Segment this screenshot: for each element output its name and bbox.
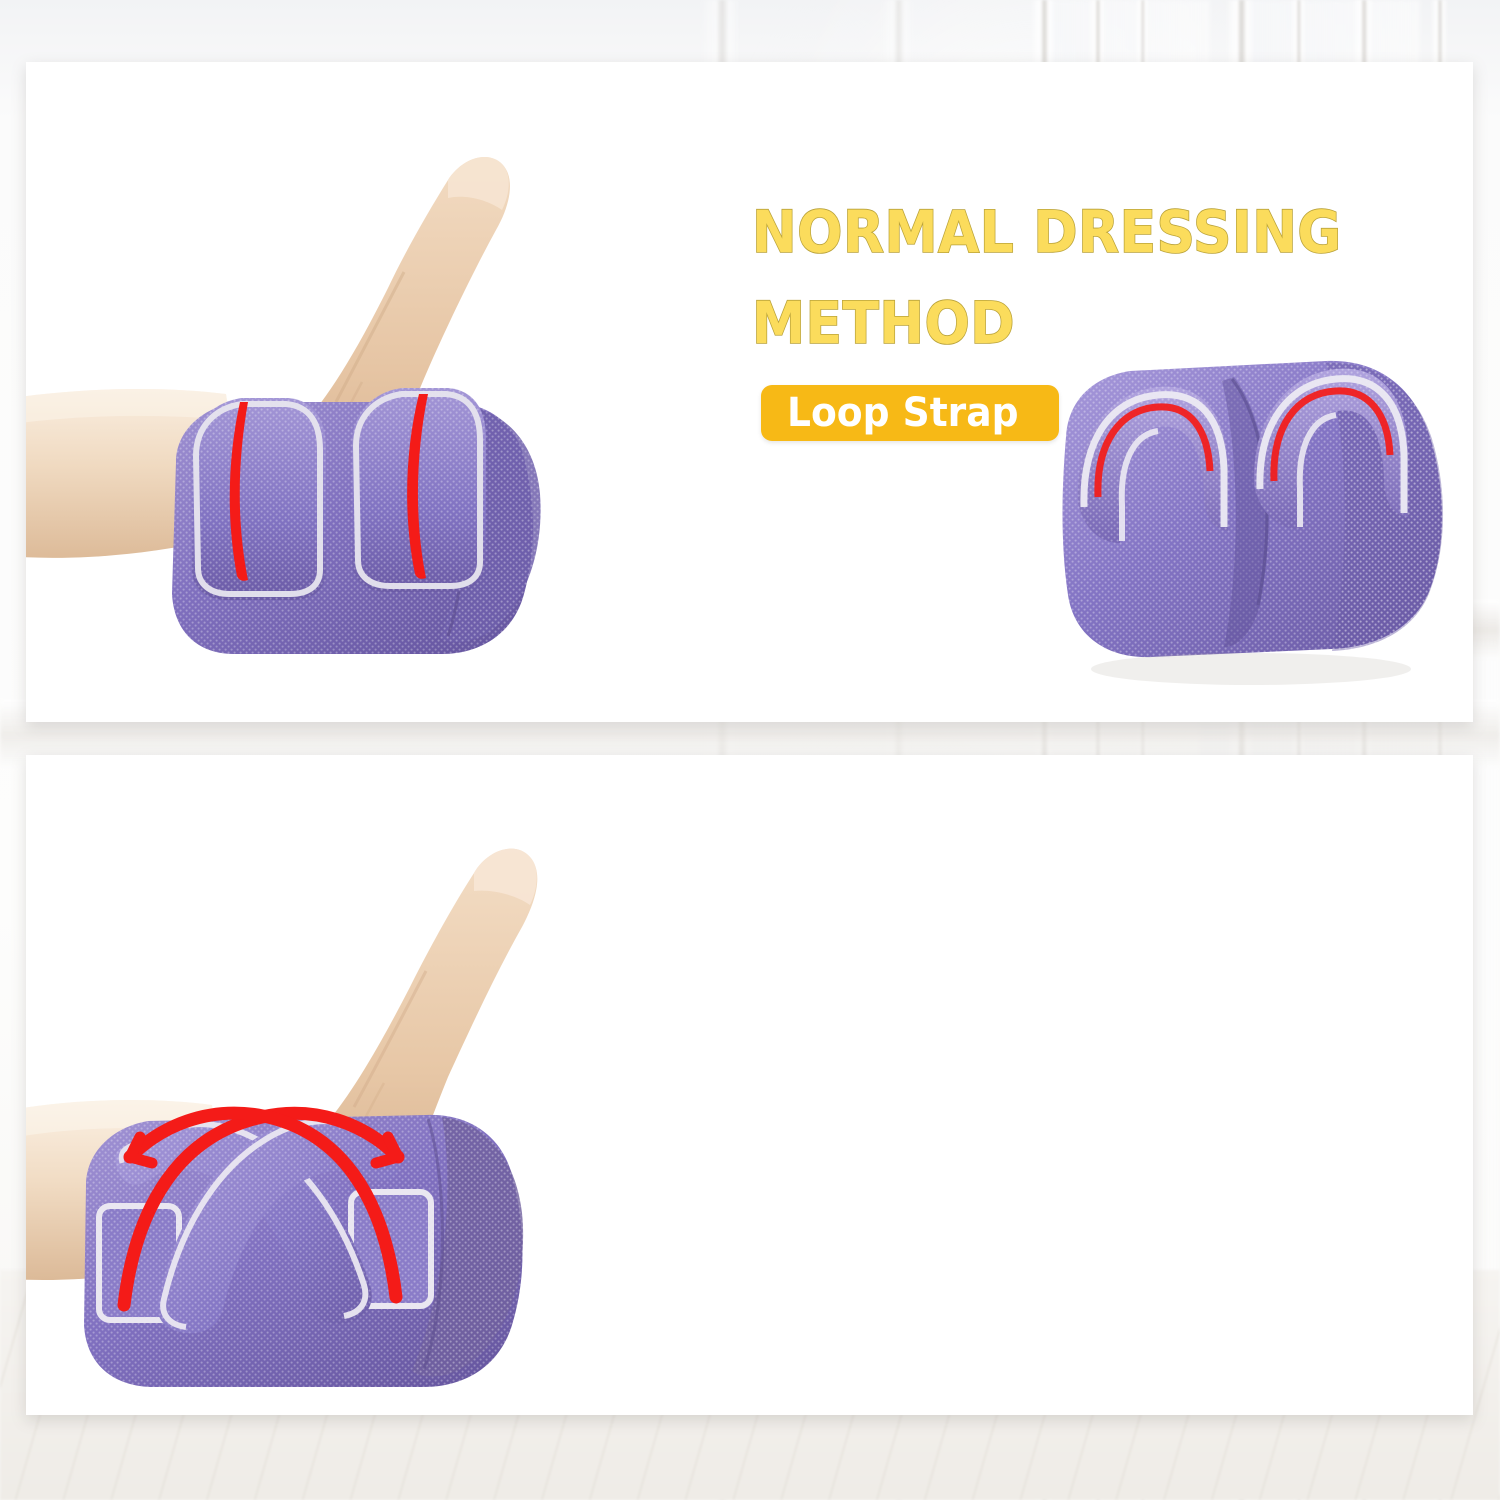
foot-wearing-protector-normal [26,102,696,702]
infographic-page: NORMAL DRESSING METHOD Loop Strap [0,0,1500,1500]
panel-normal-heading-line2: METHOD [752,294,1015,352]
loop-strap-left [192,398,326,600]
loop-strap-badge: Loop Strap [761,385,1059,441]
loop-strap-badge-label: Loop Strap [787,390,1019,436]
panel-cross-dressing: CROSS DRESSING METHOD For people who hav… [26,755,1473,1415]
product-standalone [1026,317,1473,722]
panel-normal-dressing: NORMAL DRESSING METHOD Loop Strap [26,62,1473,722]
foot-wearing-protector-cross [26,785,696,1405]
panel-normal-heading-line1: NORMAL DRESSING [752,203,1342,261]
